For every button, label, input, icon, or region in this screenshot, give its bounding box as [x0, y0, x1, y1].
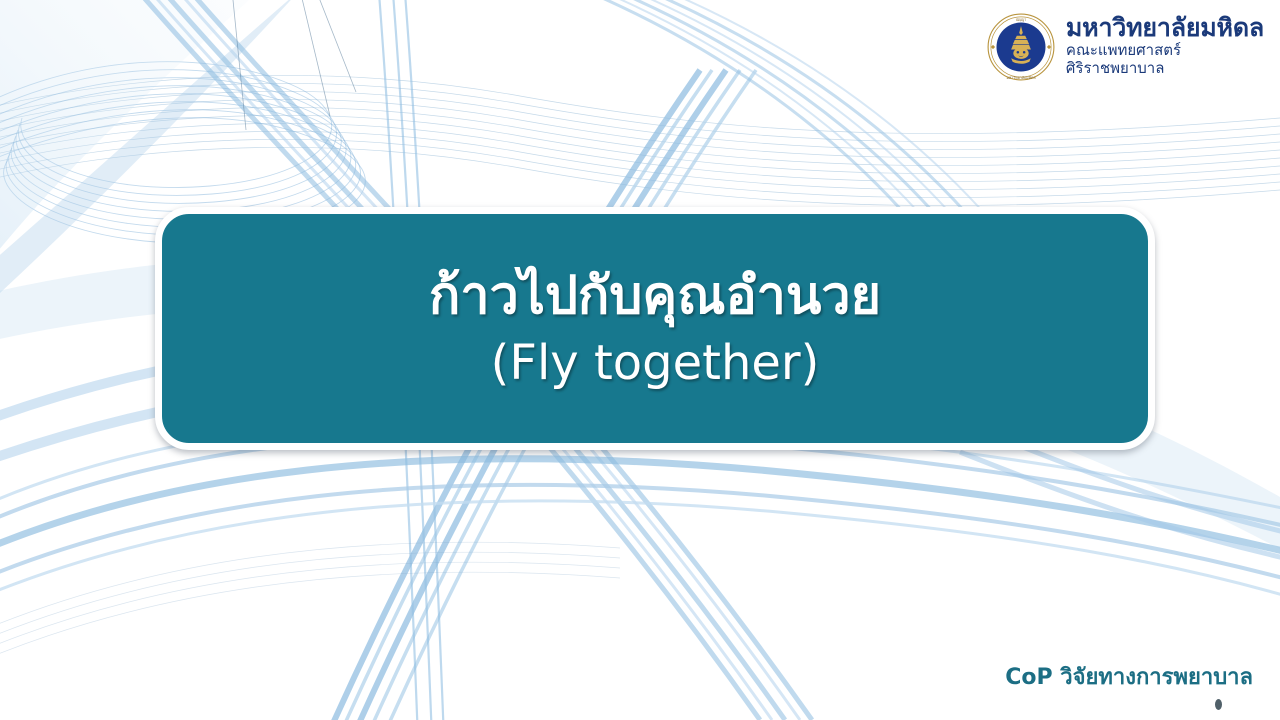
logo-faculty-name: คณะแพทยศาสตร์ — [1066, 41, 1264, 59]
svg-text:มหาวิทยาลัยมหิดล: มหาวิทยาลัยมหิดล — [1006, 76, 1035, 80]
logo-university-name: มหาวิทยาลัยมหิดล — [1066, 14, 1264, 41]
mahidol-siriraj-logo: ปญฺญา มหาวิทยาลัยมหิดล มหาวิทยาลัยมหิดล … — [986, 12, 1264, 82]
slide-title-thai: ก้าวไปกับคุณอำนวย — [429, 269, 881, 324]
mahidol-university-crest-icon: ปญฺญา มหาวิทยาลัยมหิดล — [986, 12, 1056, 82]
svg-text:ปญฺญา: ปญฺญา — [1016, 17, 1027, 22]
logo-hospital-name: ศิริราชพยาบาล — [1066, 59, 1264, 77]
logo-text-block: มหาวิทยาลัยมหิดล คณะแพทยศาสตร์ ศิริราชพย… — [1066, 12, 1264, 77]
presentation-slide: ปญฺญา มหาวิทยาลัยมหิดล มหาวิทยาลัยมหิดล … — [0, 0, 1280, 720]
footer-group-label: CoP วิจัยทางการพยาบาล — [1005, 659, 1253, 694]
footer-dot-marker — [1215, 699, 1222, 710]
slide-title-panel: ก้าวไปกับคุณอำนวย (Fly together) — [155, 207, 1155, 450]
slide-title-english: (Fly together) — [491, 338, 820, 388]
